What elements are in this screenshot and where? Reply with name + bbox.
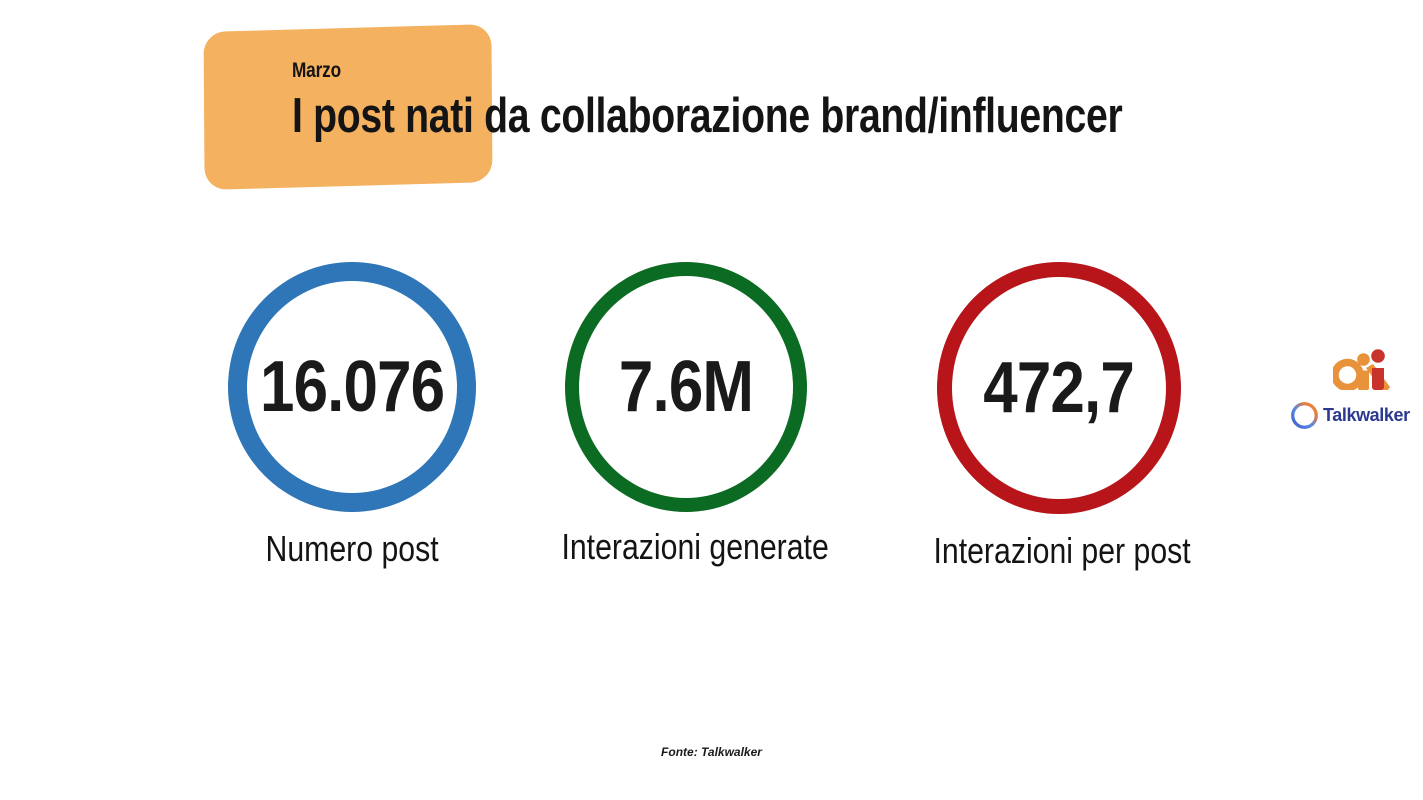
kpi-label-numero-post: Numero post [202,528,502,570]
kpi-value-text: 7.6M [619,351,753,423]
kpi-value-interazioni-per-post: 472,7 [937,262,1181,514]
kpi-row: 16.076 Numero post 7.6M Interazioni gene… [0,262,1240,592]
source-note: Fonte: Talkwalker [0,744,1423,760]
kpi-value-interazioni-generate: 7.6M [565,262,807,512]
kpi-label-text: Numero post [265,528,438,570]
kpi-value-numero-post: 16.076 [228,262,476,512]
kpi-ring-wrap-numero-post: 16.076 [228,262,476,512]
kpi-ring-wrap-interazioni-generate: 7.6M [565,262,807,512]
header-block: Marzo I post nati da collaborazione bran… [0,0,1423,220]
kpi-label-interazioni-generate: Interazioni generate [536,526,836,568]
talkwalker-logo: Talkwalker [1291,400,1417,430]
kpi-value-text: 16.076 [260,351,444,423]
oni-logo-icon [1333,344,1395,390]
kpi-ring-wrap-interazioni-per-post: 472,7 [937,262,1181,514]
kpi-card-interazioni-per-post: 472,7 Interazioni per post [909,262,1209,572]
kicker-label: Marzo [292,58,1161,84]
header-text-group: Marzo I post nati da collaborazione bran… [292,58,1352,145]
talkwalker-wordmark: Talkwalker [1323,405,1410,425]
talkwalker-mark-icon [1291,402,1318,429]
logo-cluster: Talkwalker [1285,344,1417,436]
kpi-label-text: Interazioni per post [933,530,1190,572]
kpi-label-text: Interazioni generate [561,526,828,568]
kpi-card-numero-post: 16.076 Numero post [202,262,502,570]
page-title: I post nati da collaborazione brand/infl… [292,87,1140,145]
kpi-value-text: 472,7 [984,352,1135,424]
kpi-label-interazioni-per-post: Interazioni per post [909,530,1209,572]
slide-canvas: Marzo I post nati da collaborazione bran… [0,0,1423,800]
kpi-card-interazioni-generate: 7.6M Interazioni generate [536,262,836,568]
